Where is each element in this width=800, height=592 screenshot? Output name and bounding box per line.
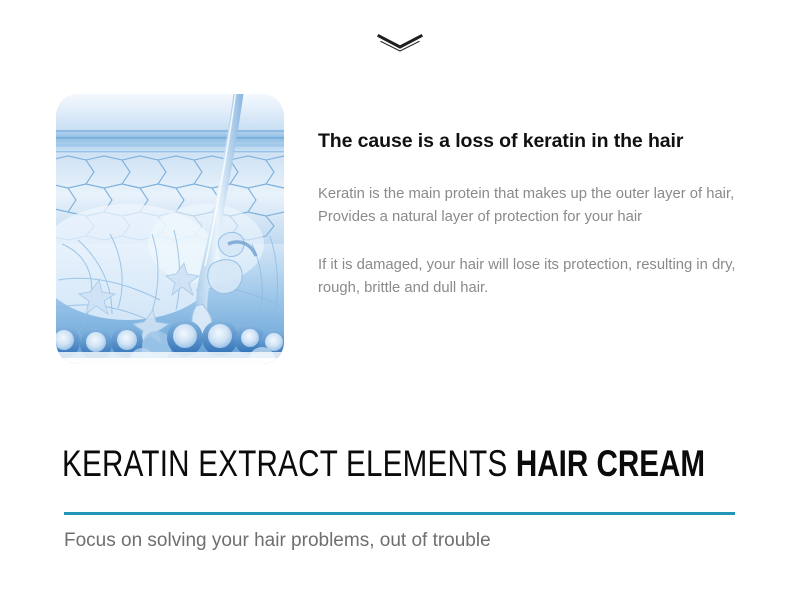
brand-title-strong: HAIR CREAM (516, 443, 705, 484)
brand-divider-rule (64, 512, 735, 515)
hair-follicle-skin-cross-section-illustration (56, 94, 284, 364)
brand-title-regular: KERATIN EXTRACT ELEMENTS (62, 443, 516, 484)
brand-subtitle: Focus on solving your hair problems, out… (64, 530, 491, 552)
brand-title: KERATIN EXTRACT ELEMENTS HAIR CREAM (62, 440, 705, 488)
hero-heading: The cause is a loss of keratin in the ha… (318, 130, 773, 153)
hero-paragraph-2: If it is damaged, your hair will lose it… (318, 254, 773, 299)
hero-paragraph-1: Keratin is the main protein that makes u… (318, 183, 773, 228)
hero-section: The cause is a loss of keratin in the ha… (0, 94, 800, 369)
hero-text-column: The cause is a loss of keratin in the ha… (318, 130, 773, 299)
top-chevron-divider (0, 28, 800, 58)
chevron-down-icon (377, 32, 423, 54)
